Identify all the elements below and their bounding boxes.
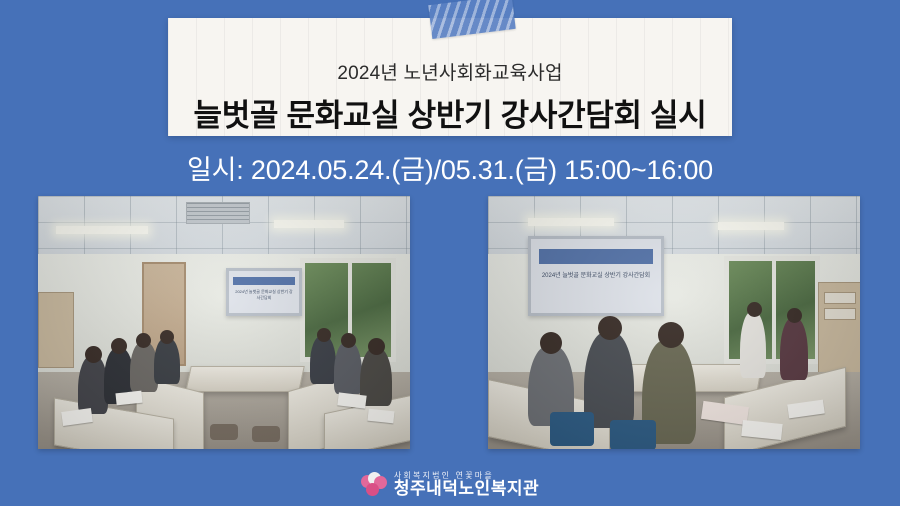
- attendee: [154, 338, 180, 384]
- slide-text: 2024년 늘벗골 문화교실 상반기 강사간담회: [235, 289, 294, 301]
- chair: [210, 424, 238, 440]
- attendee-head: [658, 322, 684, 348]
- room-scene-left: 2024년 늘벗골 문화교실 상반기 강사간담회: [38, 196, 410, 449]
- attendee-head: [341, 333, 356, 348]
- flower-logo-icon: [361, 472, 387, 498]
- projection-screen-right: 2024년 늘벗골 문화교실 상반기 강사간담회: [528, 236, 664, 316]
- shelf-box: [824, 308, 856, 320]
- room-scene-right: 2024년 늘벗골 문화교실 상반기 강사간담회: [488, 196, 860, 449]
- attendee: [310, 336, 336, 384]
- meeting-photo-right: 2024년 늘벗골 문화교실 상반기 강사간담회: [488, 196, 860, 449]
- meeting-photo-left: 2024년 늘벗골 문화교실 상반기 강사간담회: [38, 196, 410, 449]
- event-date-time: 일시: 2024.05.24.(금)/05.31.(금) 15:00~16:00: [0, 148, 900, 187]
- attendee-head: [598, 316, 622, 340]
- footer-text-block: 사회복지법인 연꽃마을 청주내덕노인복지관: [394, 472, 539, 498]
- footer-center-name: 청주내덕노인복지관: [394, 480, 539, 498]
- slide-title-band: [539, 249, 653, 264]
- slide-title-band: [233, 277, 295, 285]
- ceiling-light-icon: [56, 226, 148, 234]
- attendee-head: [540, 332, 562, 354]
- attendee-head: [85, 346, 102, 363]
- window-mullion: [772, 261, 776, 359]
- title-main: 늘벗골 문화교실 상반기 강사간담회 실시: [168, 90, 732, 135]
- attendee-head: [111, 338, 127, 354]
- chair: [610, 420, 656, 449]
- chair: [252, 426, 280, 442]
- attendee-head: [368, 338, 385, 355]
- presenter-head: [747, 302, 762, 317]
- ceiling-vent-icon: [186, 202, 250, 224]
- document: [367, 409, 394, 424]
- attendee-head: [317, 328, 331, 342]
- presenter-head: [787, 308, 802, 323]
- table-far: [185, 366, 305, 392]
- presenter: [740, 312, 766, 378]
- attendee: [334, 342, 362, 394]
- ceiling-light-icon: [718, 222, 784, 230]
- wall-cabinet: [38, 292, 74, 368]
- title-subtitle: 2024년 노년사회화교육사업: [168, 58, 732, 85]
- logo-petal: [366, 483, 379, 496]
- ceiling-light-icon: [274, 220, 344, 228]
- footer-logo: 사회복지법인 연꽃마을 청주내덕노인복지관: [0, 472, 900, 498]
- ceiling-light-icon: [528, 218, 614, 226]
- attendee-head: [160, 330, 174, 344]
- presenter: [780, 318, 808, 380]
- attendee-head: [136, 333, 151, 348]
- slide-text: 2024년 늘벗골 문화교실 상반기 강사간담회: [541, 272, 650, 281]
- shelf-box: [824, 292, 856, 304]
- projection-screen-left: 2024년 늘벗골 문화교실 상반기 강사간담회: [226, 268, 302, 316]
- chair: [550, 412, 594, 446]
